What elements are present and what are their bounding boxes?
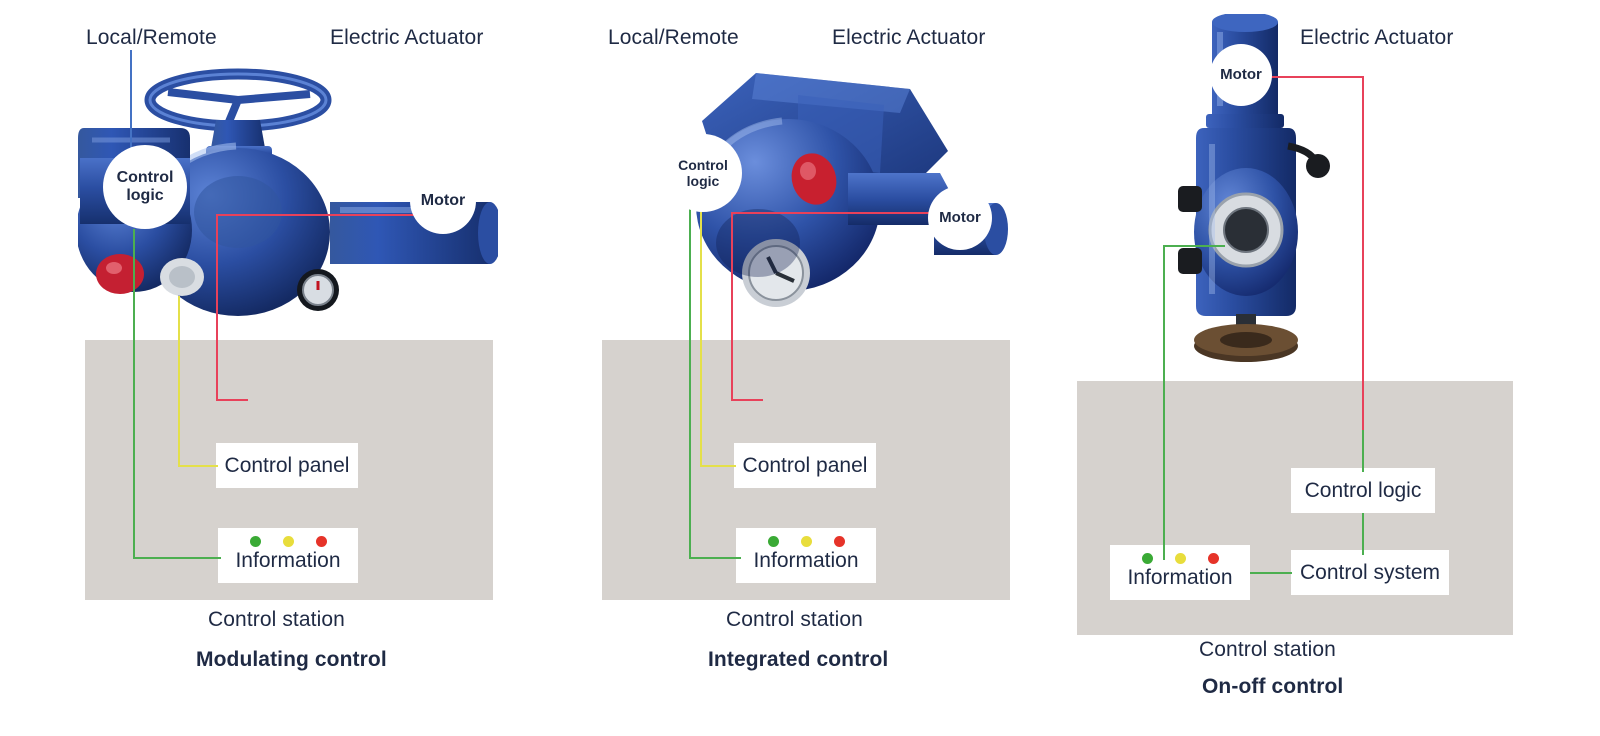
box-control-logic-3[interactable]: Control logic [1291, 468, 1435, 513]
line-power-stub-2 [731, 399, 763, 401]
line-control-panel-horizontal-2 [700, 465, 736, 467]
callout-control-logic-1: Control logic [103, 145, 187, 229]
status-dot-red-icon [1208, 553, 1219, 564]
line-power-vertical-2 [731, 212, 733, 400]
line-power-vertical-3 [1362, 76, 1364, 430]
line-information-vertical-2 [689, 208, 691, 558]
callout-motor-2: Motor [928, 186, 992, 250]
box-information-label-3: Information [1127, 566, 1232, 590]
line-information-horizontal-2 [689, 557, 741, 559]
line-power-horizontal-1 [216, 214, 442, 216]
line-control-panel-horizontal-1 [178, 465, 218, 467]
indicator-dots-3 [1142, 553, 1219, 564]
line-information-to-system-3 [1250, 572, 1292, 574]
callout-control-logic-2: Control logic [664, 134, 742, 212]
line-information-vertical-1 [133, 229, 135, 559]
line-information-vertical-3 [1163, 245, 1165, 560]
caption-on-off-control: On-off control [1202, 675, 1343, 699]
line-control-logic-to-system-3 [1362, 513, 1364, 555]
line-control-panel-vertical-1 [178, 296, 180, 466]
line-information-horizontal-top-3 [1163, 245, 1225, 247]
line-power-vertical-1 [216, 214, 218, 400]
line-power-stub-1 [216, 399, 248, 401]
box-control-system-3[interactable]: Control system [1291, 550, 1449, 595]
line-control-panel-vertical-2 [700, 208, 702, 466]
label-control-station-3: Control station [1199, 638, 1336, 662]
callout-motor-1: Motor [410, 168, 476, 234]
box-information-3[interactable]: Information [1110, 545, 1250, 600]
status-dot-green-icon [1142, 553, 1153, 564]
line-information-horizontal-1 [133, 557, 221, 559]
line-power-to-control-logic-3 [1362, 430, 1364, 472]
line-power-horizontal-3 [1265, 76, 1363, 78]
callout-motor-3: Motor [1210, 44, 1272, 106]
status-dot-yellow-icon [1175, 553, 1186, 564]
line-power-horizontal-2 [731, 212, 956, 214]
